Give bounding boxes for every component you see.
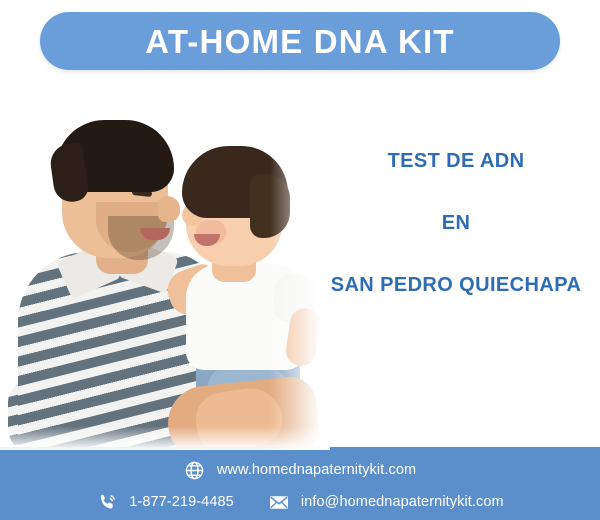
website-contact-item[interactable]: www.homednapaternitykit.com bbox=[184, 459, 416, 481]
headline-block: TEST DE ADN EN SAN PEDRO QUIECHAPA bbox=[312, 150, 600, 296]
headline-line-2: EN bbox=[312, 212, 600, 234]
photo-bottom-fade bbox=[0, 426, 330, 450]
phone-number: 1-877-219-4485 bbox=[129, 494, 234, 510]
photo-man-nose bbox=[158, 196, 180, 222]
headline-line-3: SAN PEDRO QUIECHAPA bbox=[312, 274, 600, 296]
envelope-icon bbox=[268, 491, 290, 513]
photo-right-fade bbox=[270, 82, 330, 450]
email-contact-item[interactable]: info@homednapaternitykit.com bbox=[268, 491, 504, 513]
phone-icon bbox=[96, 491, 118, 513]
contact-footer: www.homednapaternitykit.com 1-877-219-44… bbox=[0, 447, 600, 520]
phone-contact-item[interactable]: 1-877-219-4485 bbox=[96, 491, 234, 513]
title-banner: AT-HOME DNA KIT bbox=[40, 12, 560, 70]
poster: AT-HOME DNA KIT bbox=[0, 0, 600, 520]
website-url: www.homednapaternitykit.com bbox=[217, 462, 416, 478]
page-title: AT-HOME DNA KIT bbox=[145, 25, 454, 58]
father-and-child-photo bbox=[0, 82, 330, 450]
globe-icon bbox=[184, 459, 206, 481]
footer-row-phone-email: 1-877-219-4485 info@homednapaternitykit.… bbox=[0, 486, 600, 518]
headline-line-1: TEST DE ADN bbox=[312, 150, 600, 172]
footer-row-website: www.homednapaternitykit.com bbox=[0, 454, 600, 486]
email-address: info@homednapaternitykit.com bbox=[301, 494, 504, 510]
